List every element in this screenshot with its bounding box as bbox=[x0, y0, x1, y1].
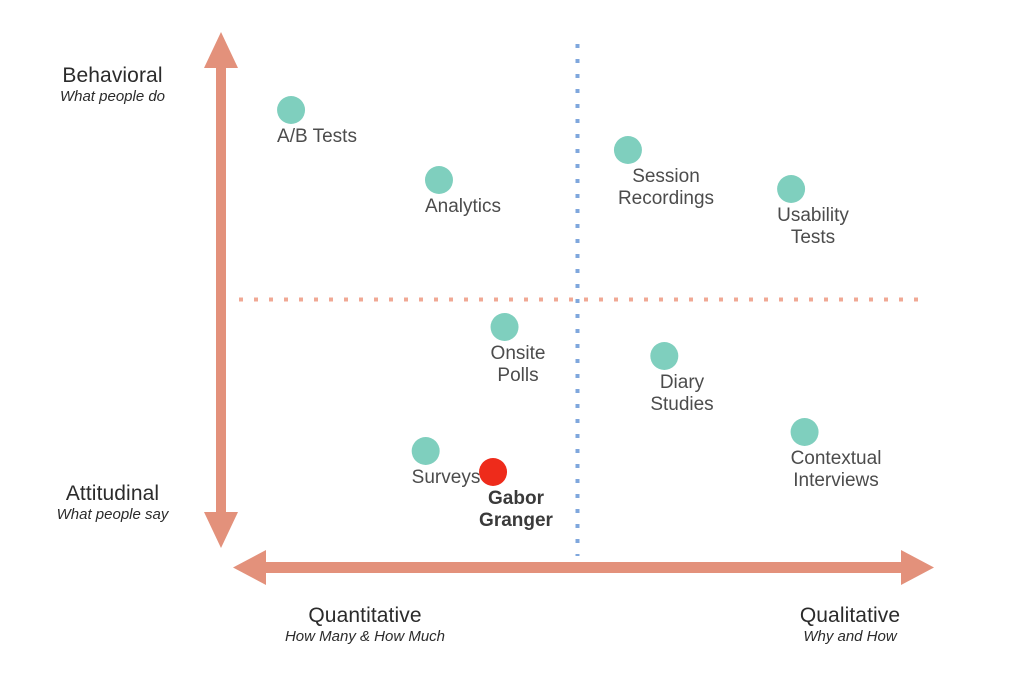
data-point: Session Recordings bbox=[618, 136, 714, 210]
horizontal-axis-arrow bbox=[233, 550, 934, 585]
axis-label-qualitative-secondary: Why and How bbox=[700, 629, 1000, 646]
axis-label-attitudinal: Attitudinal What people say bbox=[0, 482, 225, 523]
data-point-marker bbox=[614, 136, 642, 164]
data-point-label: Usability Tests bbox=[777, 205, 849, 249]
axis-label-quantitative-secondary: How Many & How Much bbox=[175, 629, 555, 646]
data-point-marker bbox=[277, 96, 305, 124]
data-point-label: A/B Tests bbox=[277, 126, 357, 148]
data-point-marker bbox=[491, 313, 519, 341]
data-point: Diary Studies bbox=[650, 342, 713, 416]
axis-label-behavioral: Behavioral What people do bbox=[0, 64, 225, 105]
axis-label-quantitative: Quantitative How Many & How Much bbox=[175, 604, 555, 645]
data-point: Usability Tests bbox=[777, 175, 849, 249]
data-point-marker bbox=[777, 175, 805, 203]
data-point: Surveys bbox=[412, 437, 481, 489]
data-point: Analytics bbox=[425, 166, 501, 218]
data-point-marker bbox=[425, 166, 453, 194]
data-point-label: Analytics bbox=[425, 196, 501, 218]
data-point-label: Session Recordings bbox=[618, 166, 714, 210]
axis-label-attitudinal-primary: Attitudinal bbox=[0, 482, 225, 506]
axis-label-qualitative: Qualitative Why and How bbox=[700, 604, 1000, 645]
data-point-label: Onsite Polls bbox=[491, 343, 546, 387]
axis-label-quantitative-primary: Quantitative bbox=[175, 604, 555, 628]
axis-label-behavioral-primary: Behavioral bbox=[0, 64, 225, 88]
data-point-marker bbox=[791, 418, 819, 446]
data-point: Contextual Interviews bbox=[791, 418, 882, 492]
data-point-marker bbox=[650, 342, 678, 370]
data-point-label: Diary Studies bbox=[650, 372, 713, 416]
axis-label-qualitative-primary: Qualitative bbox=[700, 604, 1000, 628]
data-point-label: Gabor Granger bbox=[479, 488, 553, 532]
data-point: Onsite Polls bbox=[491, 313, 546, 387]
data-point-label: Surveys bbox=[412, 467, 481, 489]
quadrant-chart-canvas: Behavioral What people do Attitudinal Wh… bbox=[0, 0, 1024, 691]
data-point: Gabor Granger bbox=[479, 458, 553, 532]
data-point: A/B Tests bbox=[277, 96, 357, 148]
axis-label-attitudinal-secondary: What people say bbox=[0, 507, 225, 524]
vertical-axis-arrow bbox=[204, 32, 238, 548]
data-point-marker bbox=[412, 437, 440, 465]
data-point-label: Contextual Interviews bbox=[791, 448, 882, 492]
axis-label-behavioral-secondary: What people do bbox=[0, 89, 225, 106]
data-point-marker bbox=[479, 458, 507, 486]
